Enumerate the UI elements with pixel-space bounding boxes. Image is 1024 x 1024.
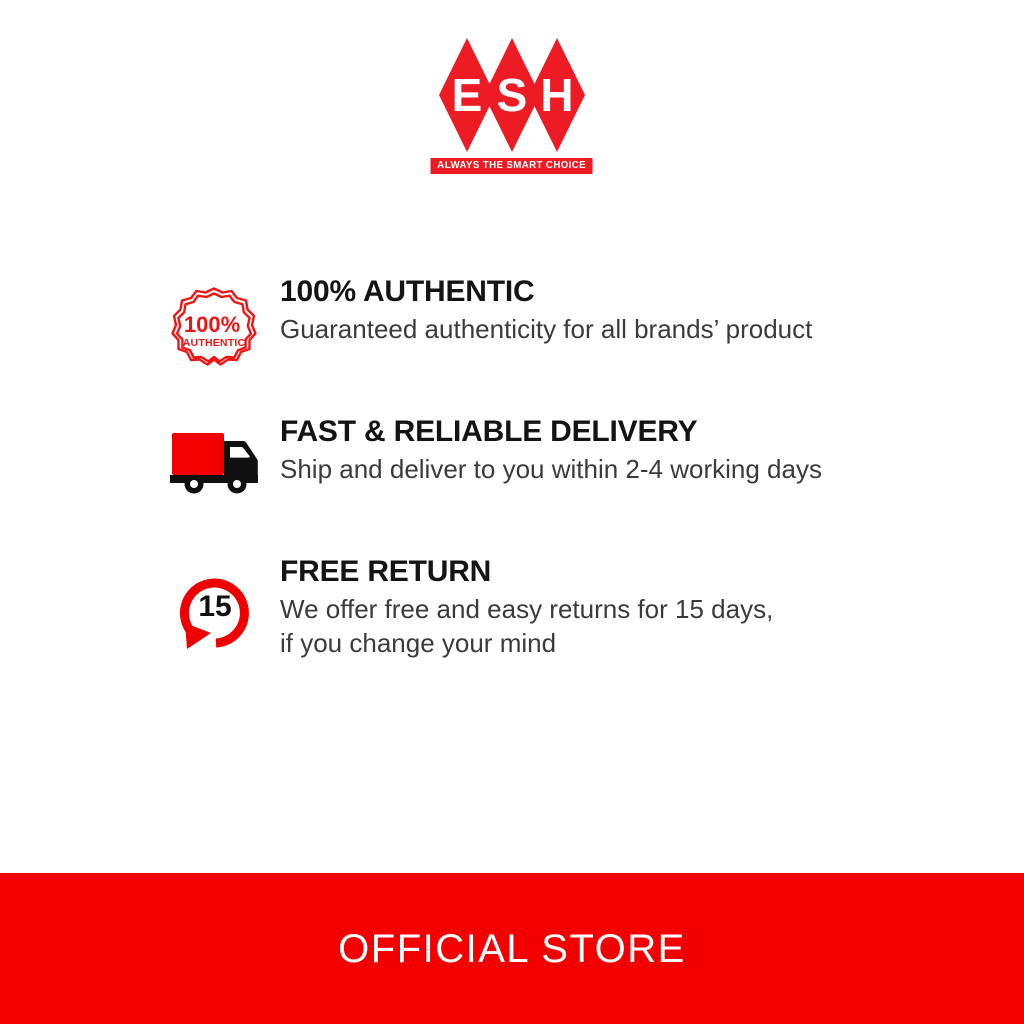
delivery-truck-icon: [170, 429, 260, 495]
return-arrow-icon: 15: [170, 563, 256, 655]
feature-icon-wrap: [170, 415, 280, 495]
truck-wheel-front-hub: [233, 480, 241, 488]
feature-title-authentic: 100% AUTHENTIC: [280, 275, 1024, 309]
authentic-badge-percent: 100%: [184, 312, 240, 337]
return-days-count: 15: [198, 590, 231, 623]
logo-letter-h: H: [529, 38, 585, 152]
feature-icon-wrap: 15: [170, 555, 280, 655]
feature-text-wrap: FAST & RELIABLE DELIVERY Ship and delive…: [280, 415, 1024, 486]
feature-desc-return-line1: We offer free and easy returns for 15 da…: [280, 592, 1024, 626]
feature-title-return: FREE RETURN: [280, 555, 1024, 589]
truck-cab: [224, 441, 258, 475]
feature-icon-wrap: 100% AUTHENTIC: [170, 275, 280, 377]
feature-desc-return-line2: if you change your mind: [280, 626, 1024, 660]
feature-desc-authentic: Guaranteed authenticity for all brands’ …: [280, 312, 1024, 346]
logo-diamond-group: E S H: [439, 38, 585, 152]
feature-item-return: 15 FREE RETURN We offer free and easy re…: [0, 555, 1024, 695]
feature-desc-delivery: Ship and deliver to you within 2-4 worki…: [280, 452, 1024, 486]
official-store-banner: OFFICIAL STORE: [0, 873, 1024, 1024]
authentic-badge-caption: AUTHENTIC: [183, 337, 246, 349]
truck-cargo-box: [172, 433, 224, 475]
truck-wheel-rear-hub: [190, 480, 198, 488]
authentic-badge-icon: 100% AUTHENTIC: [170, 285, 258, 377]
feature-title-delivery: FAST & RELIABLE DELIVERY: [280, 415, 1024, 449]
official-store-label: OFFICIAL STORE: [338, 929, 686, 969]
feature-text-wrap: FREE RETURN We offer free and easy retur…: [280, 555, 1024, 660]
brand-logo: E S H ALWAYS THE SMART CHOICE: [0, 38, 1024, 174]
feature-item-authentic: 100% AUTHENTIC 100% AUTHENTIC Guaranteed…: [0, 275, 1024, 415]
logo-tagline: ALWAYS THE SMART CHOICE: [431, 158, 593, 174]
feature-text-wrap: 100% AUTHENTIC Guaranteed authenticity f…: [280, 275, 1024, 346]
feature-list: 100% AUTHENTIC 100% AUTHENTIC Guaranteed…: [0, 275, 1024, 695]
feature-item-delivery: FAST & RELIABLE DELIVERY Ship and delive…: [0, 415, 1024, 555]
return-arrow-head: [185, 623, 211, 649]
